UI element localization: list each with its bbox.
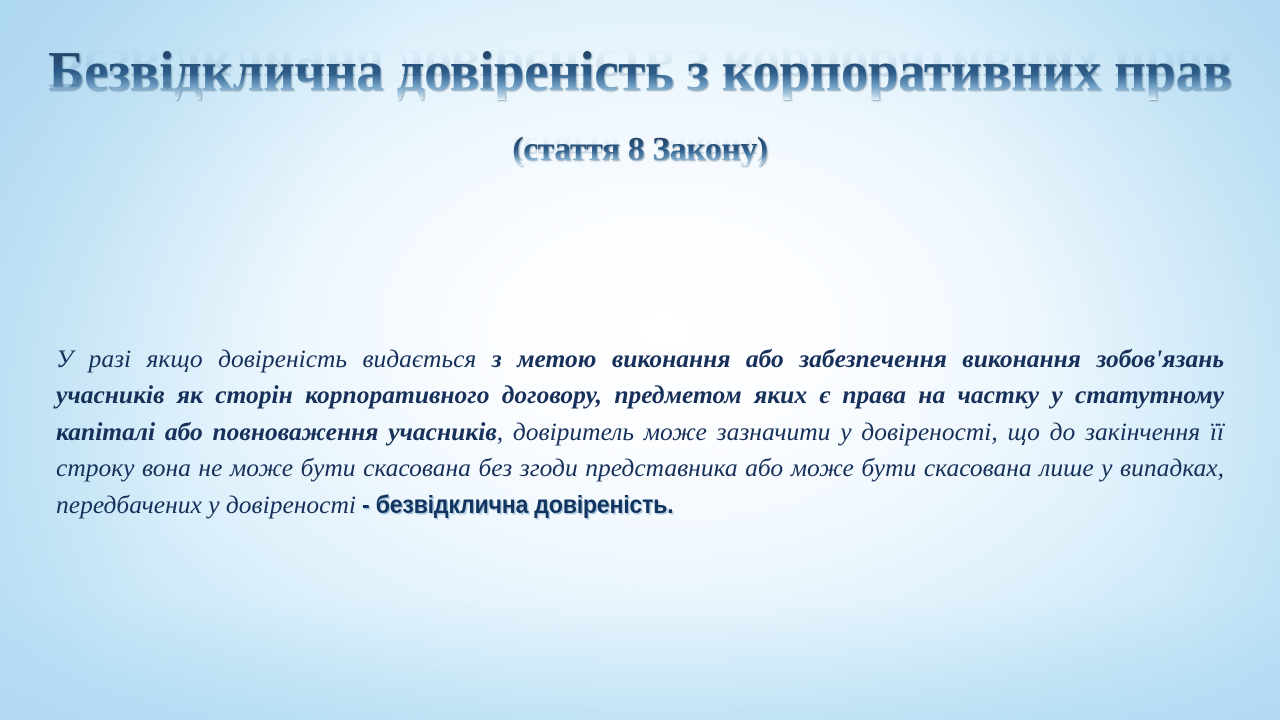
page-subtitle-wrapper: (стаття 8 Закону) (стаття 8 Закону) <box>0 134 1280 197</box>
page-subtitle: (стаття 8 Закону) <box>0 134 1280 167</box>
main-paragraph-part-1: У разі якщо довіреність видається <box>56 344 492 373</box>
title-block: Безвідклична довіреність з корпоративних… <box>0 46 1280 197</box>
slide-canvas: Безвідклична довіреність з корпоративних… <box>0 0 1280 720</box>
page-title: Безвідклична довіреність з корпоративних… <box>10 46 1271 100</box>
main-paragraph: У разі якщо довіреність видається з мето… <box>56 341 1224 524</box>
main-paragraph-kicker: - безвідклична довіреність. <box>362 487 673 524</box>
